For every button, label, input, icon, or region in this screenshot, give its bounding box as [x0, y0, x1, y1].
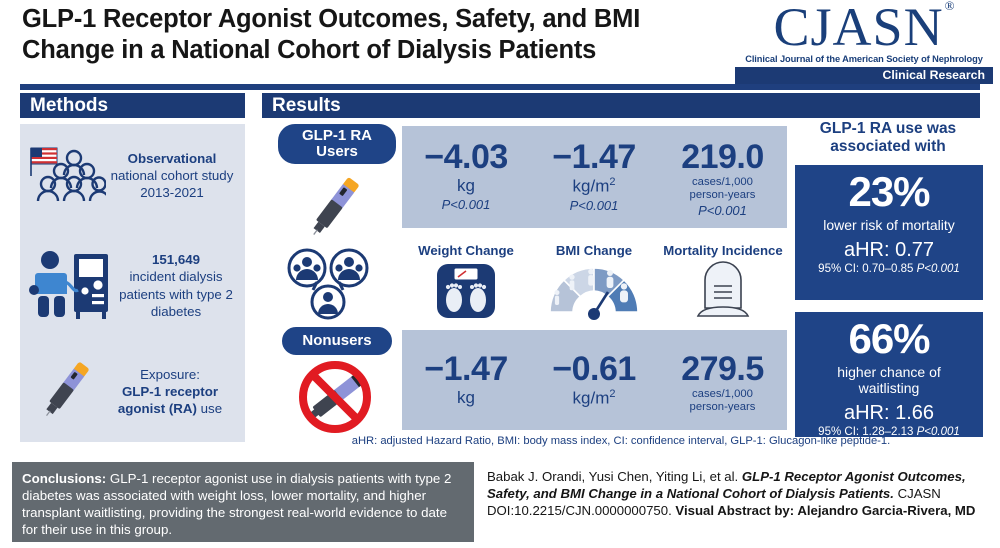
users-weight-pvalue: P<0.001 — [402, 197, 530, 212]
article-type-badge: Clinical Research — [735, 67, 993, 84]
page-title: GLP-1 Receptor Agonist Outcomes, Safety,… — [22, 4, 712, 66]
stat-waitlisting-percent: 66% — [799, 318, 979, 360]
stat-mortality-ahr: aHR: 0.77 — [799, 240, 979, 260]
header-divider — [20, 84, 980, 90]
methods-population-count: 151,649 — [152, 252, 200, 267]
users-bmi-value: −1.47 — [530, 140, 658, 174]
methods-population-line3: patients with type 2 — [119, 287, 233, 302]
stat-waitlisting-ci-range: 95% CI: 1.28–2.13 — [818, 426, 916, 438]
users-weight-unit: kg — [402, 177, 530, 195]
users-mortality-value: 219.0 — [658, 140, 787, 174]
stat-box-waitlisting: 66% higher chance of waitlisting aHR: 1.… — [795, 312, 983, 437]
users-bmi-cell: −1.47 kg/m2 P<0.001 — [530, 140, 658, 213]
stat-waitlisting-desc: higher chance of waitlisting — [799, 364, 979, 396]
citation-block: Babak J. Orandi, Yusi Chen, Yiting Li, e… — [487, 462, 992, 542]
methods-design-line3: 2013-2021 — [140, 185, 204, 200]
nonusers-no-pen-icon — [285, 356, 385, 443]
association-heading: GLP-1 RA use was associated with — [793, 120, 983, 157]
nonusers-mortality-sub1: cases/1,000 — [692, 388, 753, 400]
association-heading-line1: GLP-1 RA use was — [820, 120, 956, 137]
stat-mortality-ci: 95% CI: 0.70–0.85 P<0.001 — [799, 263, 979, 275]
results-section-header: Results — [262, 93, 980, 118]
outcome-weight-label: Weight Change — [402, 243, 530, 258]
users-mortality-sub1: cases/1,000 — [692, 176, 753, 188]
bmi-gauge-icon — [530, 260, 658, 327]
journal-logo: CJASN® Clinical Journal of the American … — [735, 2, 993, 84]
users-mortality-sub2: person-years — [690, 189, 756, 201]
glp1-users-line1: GLP-1 RA — [302, 127, 372, 144]
nonusers-mortality-sub2: person-years — [690, 401, 756, 413]
logo-wordmark: CJASN® — [774, 2, 955, 53]
users-mortality-cell: 219.0 cases/1,000 person-years P<0.001 — [658, 140, 787, 218]
registered-trademark-icon: ® — [945, 0, 956, 13]
stat-waitlisting-desc2: waitlisting — [859, 380, 920, 396]
citation-visual-abstract-by: Visual Abstract by: Alejandro Garcia-Riv… — [675, 503, 975, 518]
gravestone-icon — [658, 260, 788, 325]
nonusers-bmi-cell: −0.61 kg/m2 — [530, 352, 658, 408]
outcome-weight-change: Weight Change — [402, 243, 530, 327]
nonusers-bmi-value: −0.61 — [530, 352, 658, 386]
outcome-bmi-label: BMI Change — [530, 243, 658, 258]
nonusers-weight-unit: kg — [402, 389, 530, 407]
users-weight-cell: −4.03 kg P<0.001 — [402, 140, 530, 212]
cohort-groups-icon — [283, 246, 375, 325]
nonusers-mortality-cell: 279.5 cases/1,000 person-years — [658, 352, 787, 413]
methods-item-exposure: Exposure: GLP-1 receptor agonist (RA) us… — [28, 356, 240, 427]
users-results-panel: −4.03 kg P<0.001 −1.47 kg/m2 P<0.001 219… — [402, 126, 787, 228]
methods-exposure-bold2: agonist (RA) — [118, 401, 197, 416]
weight-scale-icon — [402, 260, 530, 327]
methods-exposure-bold1: GLP-1 receptor — [122, 384, 218, 399]
methods-item-population: 151,649 incident dialysis patients with … — [28, 246, 240, 325]
methods-item-design: Observational national cohort study 2013… — [28, 142, 238, 209]
methods-exposure-tail: use — [197, 401, 222, 416]
stat-mortality-percent: 23% — [799, 171, 979, 213]
outcome-bmi-change: BMI Change — [530, 243, 658, 327]
association-heading-line2: associated with — [830, 138, 945, 155]
stat-waitlisting-desc1: higher chance of — [837, 364, 941, 380]
methods-design-line2: national cohort study — [111, 168, 234, 183]
nonusers-mortality-sub: cases/1,000 person-years — [658, 388, 787, 413]
nonusers-results-panel: −1.47 kg −0.61 kg/m2 279.5 cases/1,000 p… — [402, 330, 787, 430]
users-mortality-pvalue: P<0.001 — [658, 203, 787, 218]
methods-population-line4: diabetes — [151, 304, 201, 319]
nonusers-label: Nonusers — [282, 327, 392, 355]
stat-mortality-desc: lower risk of mortality — [799, 217, 979, 233]
stat-waitlisting-ahr: aHR: 1.66 — [799, 403, 979, 423]
methods-exposure-line1: Exposure: — [140, 367, 200, 382]
glp1-users-label: GLP-1 RA Users — [278, 124, 396, 164]
stat-mortality-ci-pvalue: P<0.001 — [917, 263, 960, 275]
outcome-mortality-incidence: Mortality Incidence — [658, 243, 788, 325]
flag-people-icon — [28, 142, 106, 209]
glp1-users-line2: Users — [316, 143, 358, 160]
dialysis-machine-icon — [28, 246, 112, 325]
methods-section-header: Methods — [20, 93, 245, 118]
methods-design-text: Observational national cohort study 2013… — [106, 150, 238, 201]
methods-population-text: 151,649 incident dialysis patients with … — [112, 251, 240, 319]
outcome-mortality-label: Mortality Incidence — [658, 243, 788, 258]
stat-box-mortality: 23% lower risk of mortality aHR: 0.77 95… — [795, 165, 983, 300]
nonusers-bmi-unit: kg/m2 — [530, 389, 658, 408]
injector-pen-icon — [28, 356, 104, 427]
users-mortality-sub: cases/1,000 person-years — [658, 176, 787, 201]
users-weight-value: −4.03 — [402, 140, 530, 174]
methods-exposure-text: Exposure: GLP-1 receptor agonist (RA) us… — [104, 366, 236, 417]
methods-design-bold: Observational — [128, 151, 217, 166]
users-bmi-unit: kg/m2 — [530, 177, 658, 196]
users-bmi-pvalue: P<0.001 — [530, 198, 658, 213]
nonusers-weight-cell: −1.47 kg — [402, 352, 530, 407]
nonusers-mortality-value: 279.5 — [658, 352, 787, 386]
nonusers-weight-value: −1.47 — [402, 352, 530, 386]
glp1-users-label-text: GLP-1 RA Users — [302, 128, 372, 160]
stat-mortality-ci-range: 95% CI: 0.70–0.85 — [818, 263, 916, 275]
conclusions-label: Conclusions: — [22, 471, 106, 486]
stat-waitlisting-ci: 95% CI: 1.28–2.13 P<0.001 — [799, 426, 979, 438]
methods-panel: Observational national cohort study 2013… — [20, 124, 245, 442]
users-pen-icon — [288, 170, 380, 247]
conclusions-box: Conclusions: GLP-1 receptor agonist use … — [12, 462, 474, 542]
stat-waitlisting-ci-pvalue: P<0.001 — [917, 426, 960, 438]
citation-authors: Babak J. Orandi, Yusi Chen, Yiting Li, e… — [487, 469, 742, 484]
visual-abstract-page: GLP-1 Receptor Agonist Outcomes, Safety,… — [0, 0, 1000, 548]
logo-text: CJASN — [774, 0, 944, 57]
methods-population-line2: incident dialysis — [129, 269, 222, 284]
